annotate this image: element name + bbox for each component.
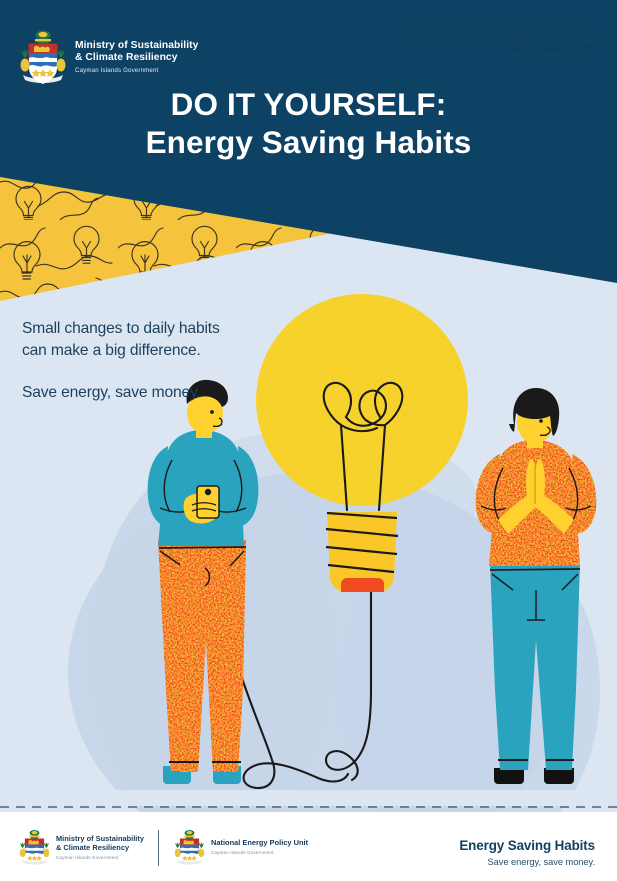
page-title: DO IT YOURSELF: Energy Saving Habits [0, 88, 617, 162]
footer-logo-ministry: Ministry of Sustainability & Climate Res… [18, 828, 144, 867]
person-right-figure [476, 388, 597, 784]
ghost-line-2: Let's Save Energy [405, 42, 599, 55]
body-paragraph-2: Save energy, save money. [22, 382, 237, 404]
ghost-line-1: Become an Energy Superhero [405, 24, 599, 41]
ministry-line-3: Cayman Islands Government [75, 67, 198, 74]
footer-tagline: Energy Saving Habits Save energy, save m… [459, 838, 595, 868]
footer-ministry-text: Ministry of Sustainability & Climate Res… [56, 835, 144, 860]
footer-tagline-sub: Save energy, save money. [459, 857, 595, 868]
ministry-line-1: Ministry of Sustainability [75, 40, 198, 52]
body-paragraph-1: Small changes to daily habits can make a… [22, 318, 237, 362]
poster-canvas: Ministry of Sustainability & Climate Res… [0, 0, 617, 881]
ghost-watermark-text: Become an Energy Superhero Let's Save En… [405, 24, 599, 55]
footer-nepu-text: National Energy Policy Unit Cayman Islan… [211, 839, 308, 855]
footer-ministry-line-2: & Climate Resiliency [56, 844, 144, 853]
ministry-line-2: & Climate Resiliency [75, 52, 198, 64]
title-line-2: Energy Saving Habits [0, 124, 617, 162]
footer-tagline-title: Energy Saving Habits [459, 838, 595, 854]
footer-logo-divider [158, 830, 159, 866]
giant-lightbulb-icon [256, 294, 468, 780]
ministry-logo-header: Ministry of Sustainability & Climate Res… [18, 28, 198, 86]
cayman-coat-of-arms-icon [173, 828, 206, 867]
footer-nepu-line-2: Cayman Islands Government [211, 850, 308, 855]
dashed-divider [0, 806, 617, 807]
body-copy-block: Small changes to daily habits can make a… [22, 318, 237, 404]
footer-logo-nepu: National Energy Policy Unit Cayman Islan… [173, 828, 308, 867]
cayman-coat-of-arms-icon [18, 28, 68, 86]
footer-bar: Ministry of Sustainability & Climate Res… [0, 812, 617, 881]
title-line-1: DO IT YOURSELF: [0, 88, 617, 121]
footer-ministry-line-3: Cayman Islands Government [56, 855, 144, 860]
footer-logos: Ministry of Sustainability & Climate Res… [18, 828, 308, 867]
footer-nepu-line-1: National Energy Policy Unit [211, 839, 308, 848]
cayman-coat-of-arms-icon [18, 828, 51, 867]
ministry-logo-text: Ministry of Sustainability & Climate Res… [75, 40, 198, 73]
